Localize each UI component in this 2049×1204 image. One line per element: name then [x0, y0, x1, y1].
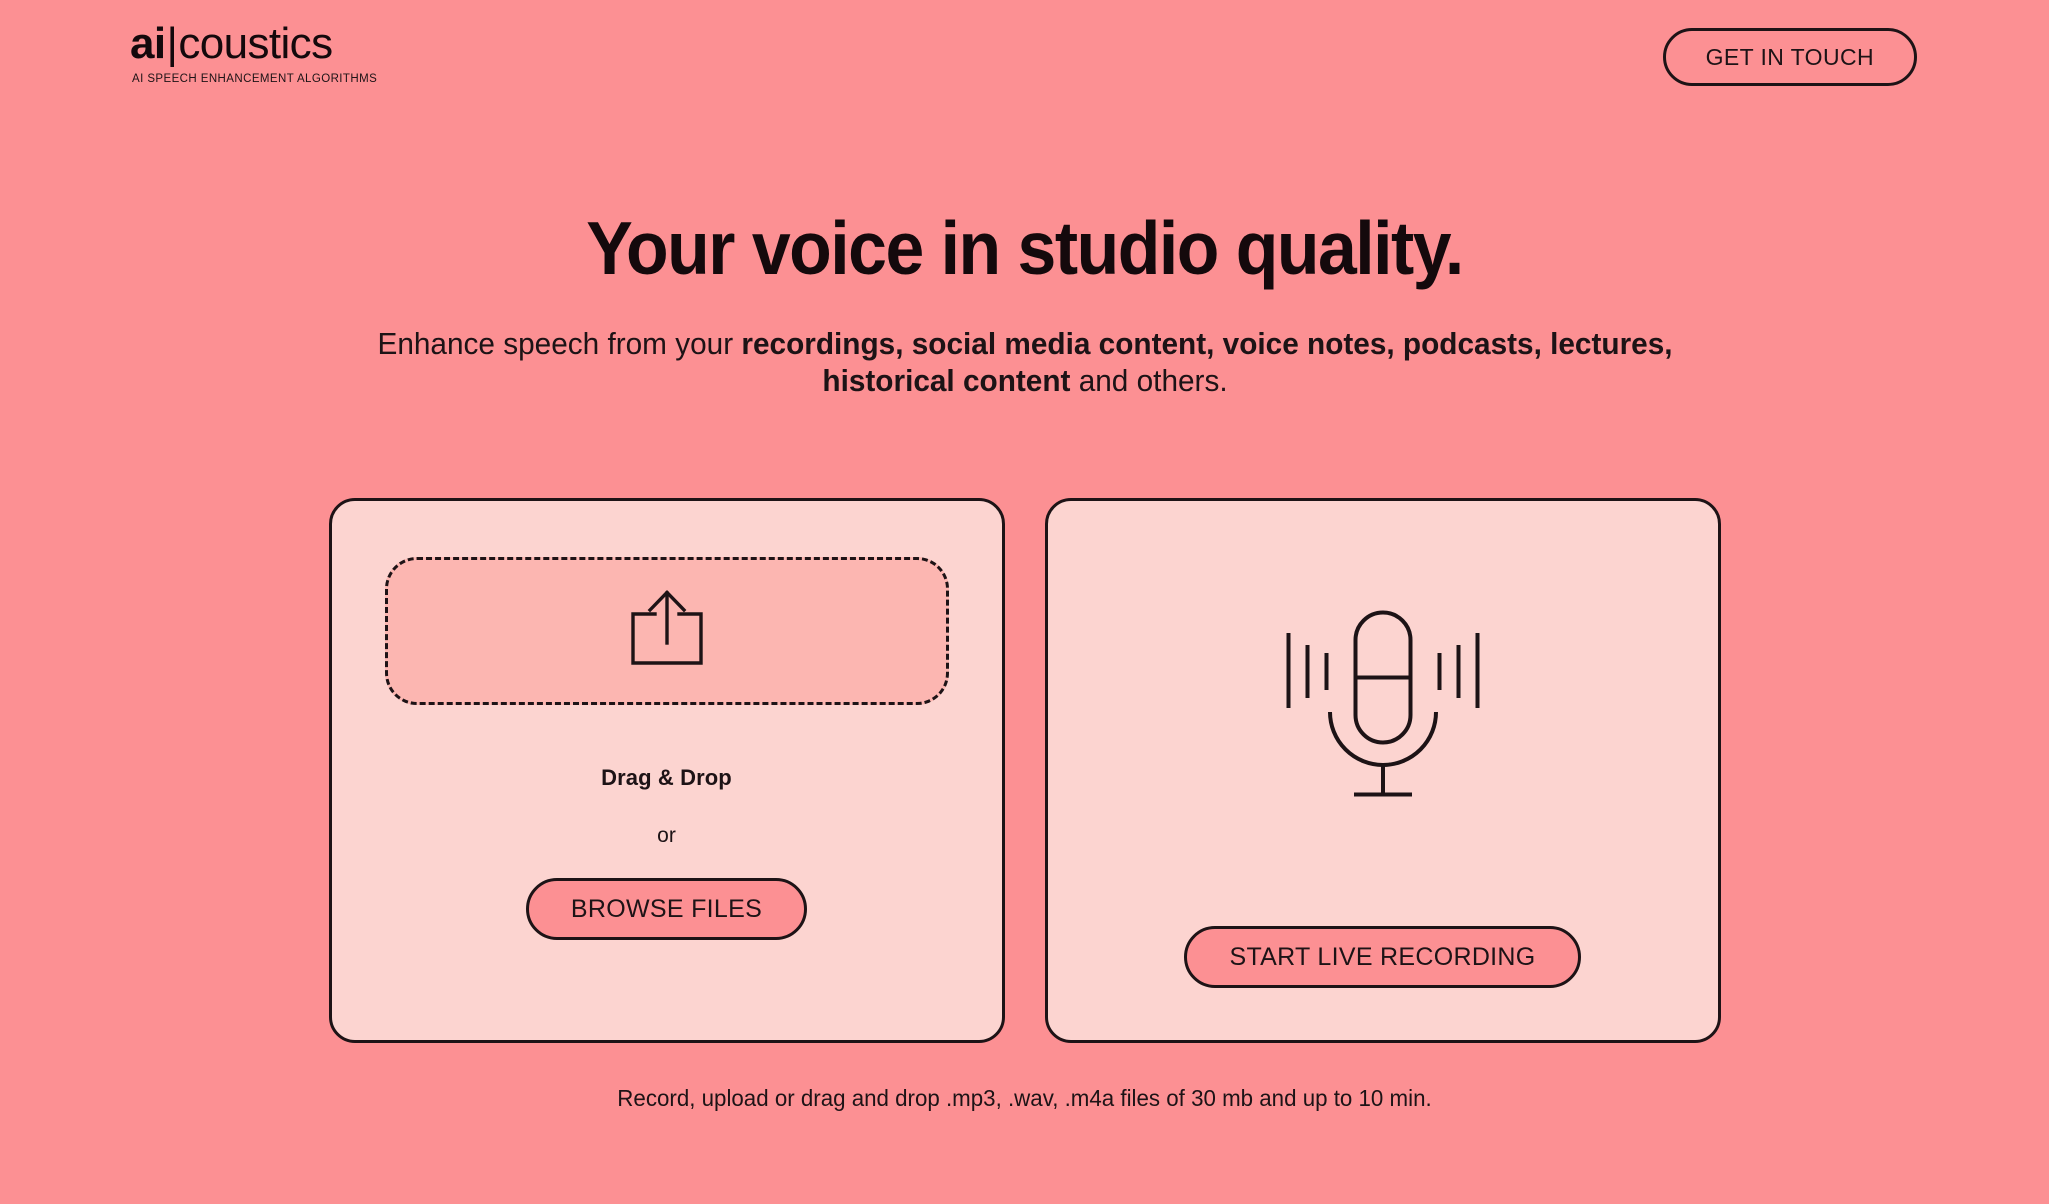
brand-name-rest: coustics — [178, 22, 332, 66]
upload-card[interactable]: Drag & Drop or BROWSE FILES — [329, 498, 1005, 1043]
brand-logo[interactable]: ai|coustics AI SPEECH ENHANCEMENT ALGORI… — [130, 0, 377, 85]
upload-constraints-note: Record, upload or drag and drop .mp3, .w… — [31, 1085, 2019, 1112]
record-card[interactable]: START LIVE RECORDING — [1045, 498, 1721, 1043]
hero-subtitle: Enhance speech from your recordings, soc… — [343, 325, 1706, 401]
site-header: ai|coustics AI SPEECH ENHANCEMENT ALGORI… — [0, 0, 2049, 132]
file-dropzone[interactable] — [385, 557, 949, 705]
drag-and-drop-label: Drag & Drop — [601, 765, 732, 791]
brand-divider: | — [166, 22, 179, 66]
get-in-touch-button[interactable]: GET IN TOUCH — [1663, 28, 1917, 86]
action-cards: Drag & Drop or BROWSE FILES — [0, 498, 2049, 1043]
or-separator-label: or — [657, 824, 676, 848]
hero-section: Your voice in studio quality. Enhance sp… — [0, 132, 2049, 400]
page-title: Your voice in studio quality. — [72, 210, 1978, 287]
browse-files-button[interactable]: BROWSE FILES — [526, 878, 807, 940]
brand-wordmark: ai|coustics — [130, 22, 333, 66]
hero-subtitle-lead: Enhance speech from your — [377, 326, 741, 361]
upload-tray-icon — [622, 587, 712, 676]
microphone-icon — [1285, 608, 1481, 813]
brand-name-bold: ai — [130, 22, 166, 66]
brand-tagline: AI SPEECH ENHANCEMENT ALGORITHMS — [132, 73, 377, 85]
microphone-illustration — [1048, 501, 1718, 926]
record-button-wrapper: START LIVE RECORDING — [1184, 926, 1580, 1040]
start-live-recording-button[interactable]: START LIVE RECORDING — [1184, 926, 1580, 988]
hero-subtitle-tail: and others. — [1070, 363, 1227, 398]
